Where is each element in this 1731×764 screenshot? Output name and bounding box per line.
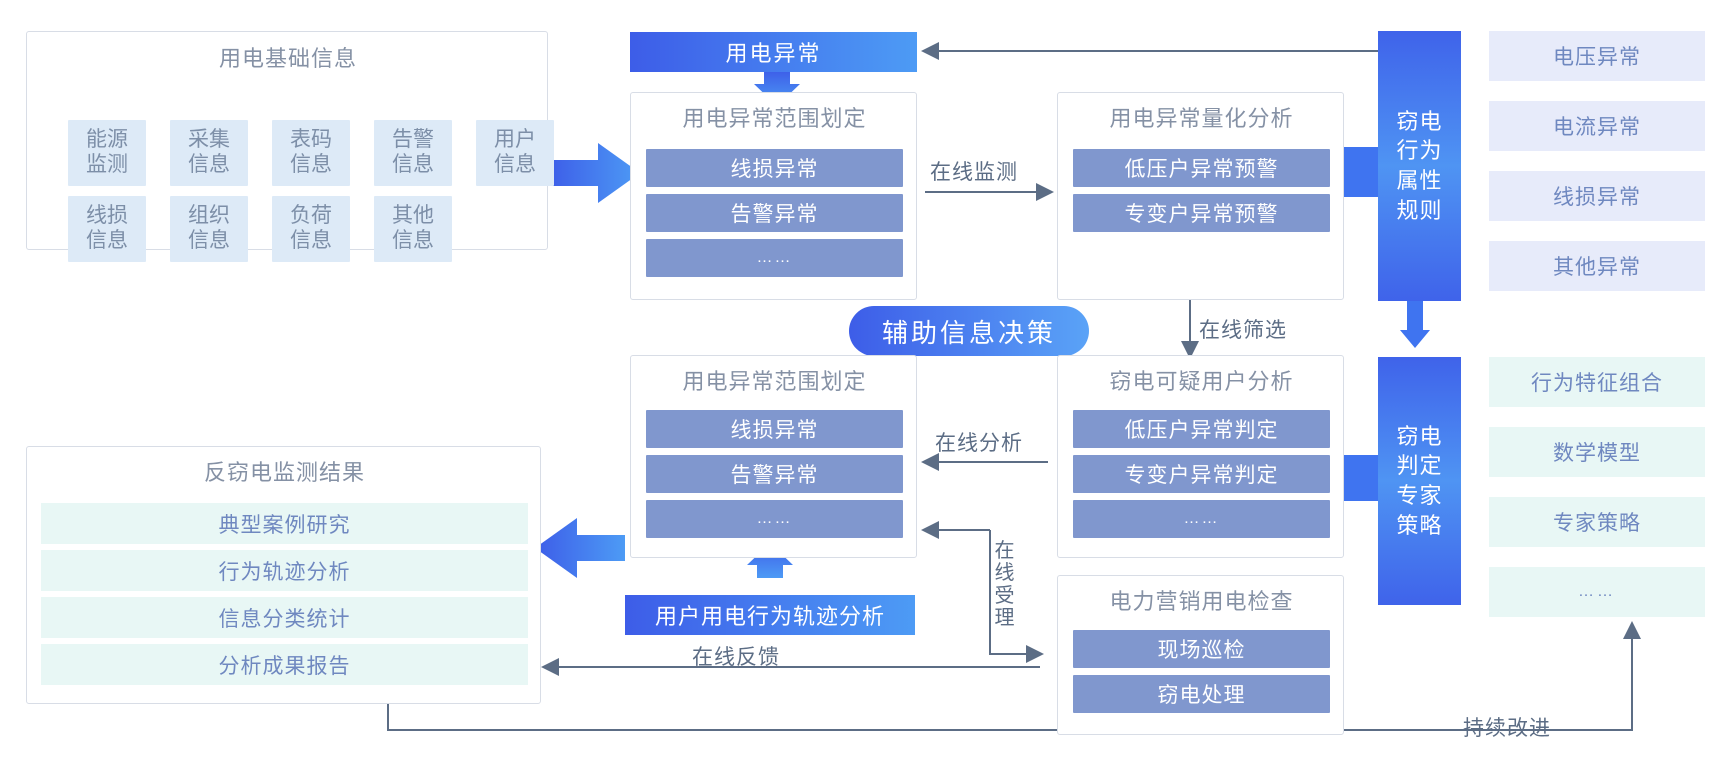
marketing-check-panel: 电力营销用电检查 现场巡检 窃电处理	[1057, 575, 1344, 735]
chip-organization-info[interactable]: 组织 信息	[170, 196, 248, 262]
suspect-item-special-user-judge[interactable]: 专变户异常判定	[1073, 455, 1330, 493]
quant-item-lv-user-warning[interactable]: 低压户异常预警	[1073, 149, 1330, 187]
rule-item-current-anomaly[interactable]: 电流异常	[1489, 101, 1705, 151]
scope-top-panel: 用电异常范围划定 线损异常 告警异常 ……	[630, 92, 917, 300]
suspect-item-lv-user-judge[interactable]: 低压户异常判定	[1073, 410, 1330, 448]
expert-item-math-model[interactable]: 数学模型	[1489, 427, 1705, 477]
suspect-analysis-title: 窃电可疑用户分析	[1058, 370, 1345, 394]
results-panel: 反窃电监测结果 典型案例研究 行为轨迹分析 信息分类统计 分析成果报告	[26, 446, 541, 704]
scope-bottom-item-alarm[interactable]: 告警异常	[646, 455, 903, 493]
chip-other-info[interactable]: 其他 信息	[374, 196, 452, 262]
quant-analysis-title: 用电异常量化分析	[1058, 107, 1345, 131]
decision-pill[interactable]: 辅助信息决策	[849, 306, 1089, 356]
chip-meter-code-info[interactable]: 表码 信息	[272, 120, 350, 186]
chip-user-info[interactable]: 用户 信息	[476, 120, 554, 186]
chip-line-loss-info[interactable]: 线损 信息	[68, 196, 146, 262]
expert-item-behavior-feature-combo[interactable]: 行为特征组合	[1489, 357, 1705, 407]
label-online-monitor: 在线监测	[930, 156, 1018, 186]
arrow-basic-to-scope	[548, 143, 640, 203]
chip-load-info[interactable]: 负荷 信息	[272, 196, 350, 262]
expert-item-expert-strategy[interactable]: 专家策略	[1489, 497, 1705, 547]
arrow-scope-to-results	[535, 518, 625, 578]
expert-strategy-block[interactable]: 窃电 判定 专家 策略	[1378, 357, 1461, 605]
chip-collection-info[interactable]: 采集 信息	[170, 120, 248, 186]
rule-item-other-anomaly[interactable]: 其他异常	[1489, 241, 1705, 291]
suspect-analysis-panel: 窃电可疑用户分析 低压户异常判定 专变户异常判定 ……	[1057, 355, 1344, 558]
trace-analysis-banner[interactable]: 用户用电行为轨迹分析	[625, 595, 915, 635]
rule-item-voltage-anomaly[interactable]: 电压异常	[1489, 31, 1705, 81]
label-online-filter: 在线筛选	[1199, 314, 1287, 344]
anomaly-banner[interactable]: 用电异常	[630, 32, 917, 72]
results-item-behavior-trace[interactable]: 行为轨迹分析	[41, 550, 528, 591]
label-online-analysis: 在线分析	[935, 427, 1023, 457]
scope-top-item-line-loss[interactable]: 线损异常	[646, 149, 903, 187]
scope-top-title: 用电异常范围划定	[631, 107, 918, 131]
results-item-analysis-report[interactable]: 分析成果报告	[41, 644, 528, 685]
marketing-item-site-inspection[interactable]: 现场巡检	[1073, 630, 1330, 668]
scope-bottom-item-line-loss[interactable]: 线损异常	[646, 410, 903, 448]
rule-item-line-loss-anomaly[interactable]: 线损异常	[1489, 171, 1705, 221]
results-item-case-study[interactable]: 典型案例研究	[41, 503, 528, 544]
results-title: 反窃电监测结果	[27, 461, 542, 485]
chip-energy-monitor[interactable]: 能源 监测	[68, 120, 146, 186]
label-continuous-improve: 持续改进	[1463, 712, 1551, 742]
results-item-info-classification[interactable]: 信息分类统计	[41, 597, 528, 638]
label-online-accept: 在 线 受 理	[992, 540, 1018, 630]
scope-bottom-title: 用电异常范围划定	[631, 370, 918, 394]
suspect-item-more[interactable]: ……	[1073, 500, 1330, 538]
row-notches-mint	[1476, 366, 1490, 600]
scope-bottom-item-more[interactable]: ……	[646, 500, 903, 538]
label-online-feedback: 在线反馈	[692, 641, 780, 671]
diagram-canvas: 用电基础信息 能源 监测 采集 信息 表码 信息 告警 信息 用户 信息 线损 …	[0, 0, 1731, 764]
scope-top-item-more[interactable]: ……	[646, 239, 903, 277]
quant-item-special-user-warning[interactable]: 专变户异常预警	[1073, 194, 1330, 232]
basic-info-title: 用电基础信息	[27, 47, 549, 71]
basic-info-panel: 用电基础信息 能源 监测 采集 信息 表码 信息 告警 信息 用户 信息 线损 …	[26, 31, 548, 250]
theft-rules-block[interactable]: 窃电 行为 属性 规则	[1378, 31, 1461, 301]
marketing-item-theft-handling[interactable]: 窃电处理	[1073, 675, 1330, 713]
marketing-check-title: 电力营销用电检查	[1058, 590, 1345, 614]
expert-item-more[interactable]: ……	[1489, 567, 1705, 617]
chip-alarm-info[interactable]: 告警 信息	[374, 120, 452, 186]
scope-bottom-panel: 用电异常范围划定 线损异常 告警异常 ……	[630, 355, 917, 558]
scope-top-item-alarm[interactable]: 告警异常	[646, 194, 903, 232]
row-notches-lilac	[1476, 40, 1490, 274]
quant-analysis-panel: 用电异常量化分析 低压户异常预警 专变户异常预警	[1057, 92, 1344, 300]
